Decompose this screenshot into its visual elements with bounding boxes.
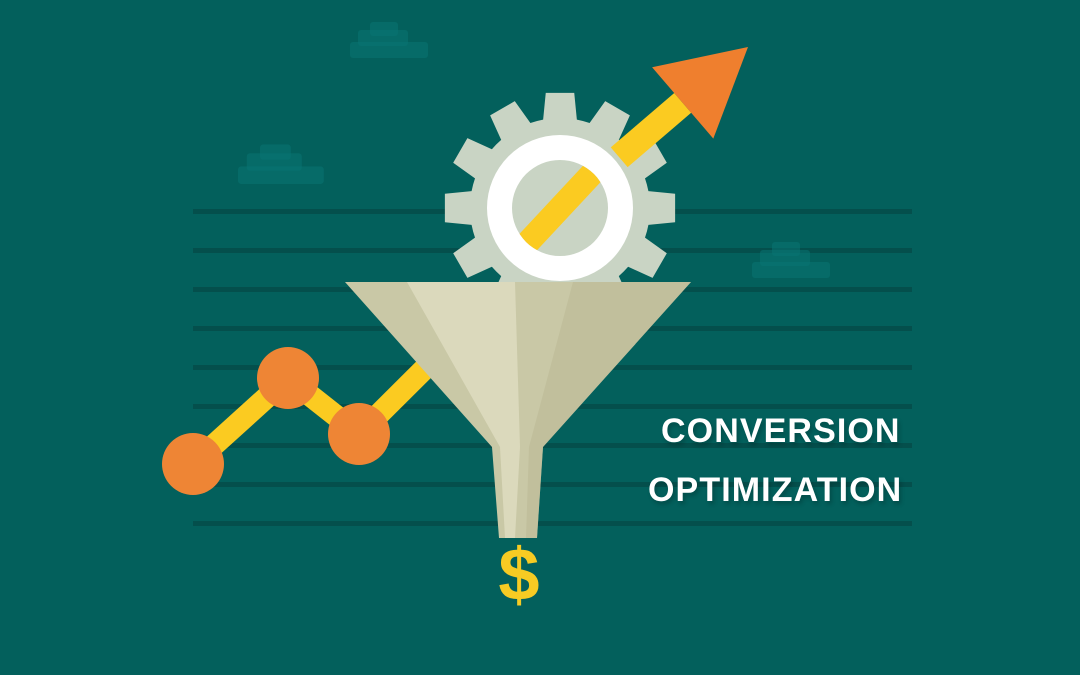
dollar-layer: $ — [0, 0, 1080, 675]
headline-line-conversion: CONVERSION — [661, 414, 901, 448]
headline-line-optimization: OPTIMIZATION — [648, 473, 902, 507]
illustration-canvas: $ CONVERSION OPTIMIZATION — [0, 0, 1080, 675]
dollar-sign: $ — [498, 533, 539, 616]
